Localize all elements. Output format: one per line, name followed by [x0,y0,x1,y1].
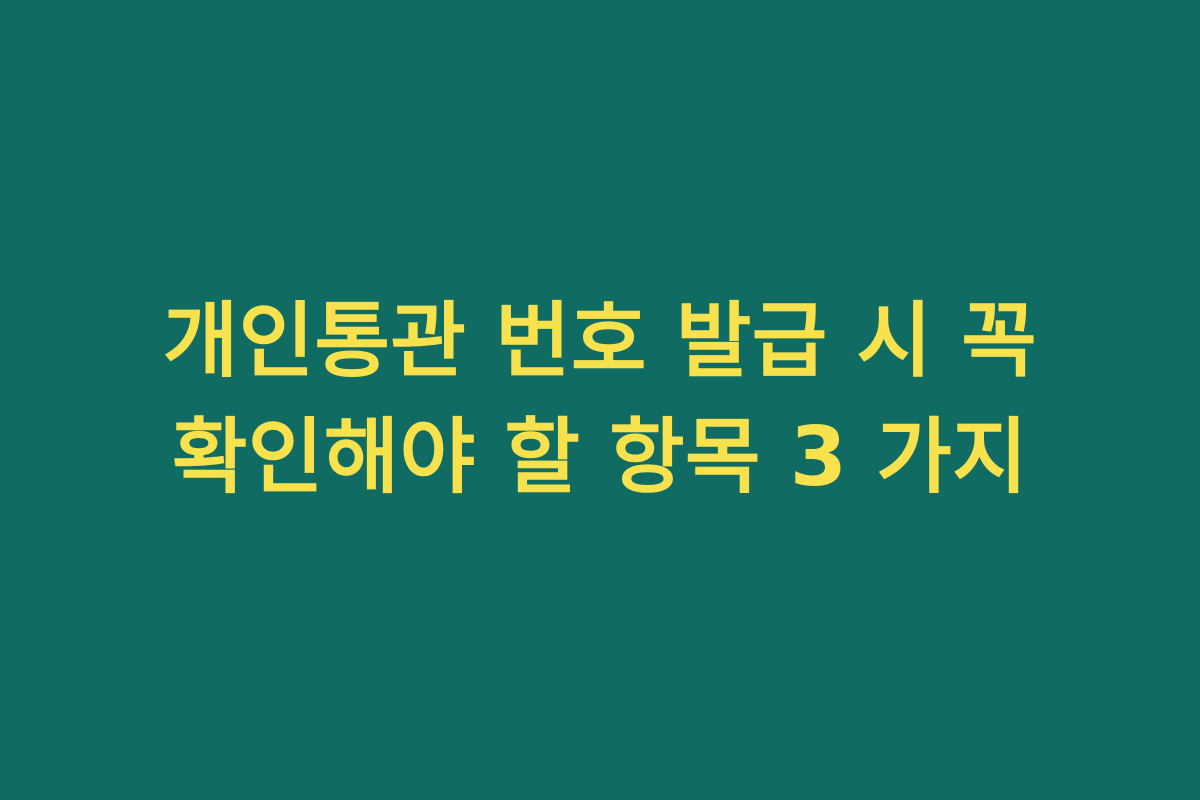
banner-background: 개인통관 번호 발급 시 꼭 확인해야 할 항목 3 가지 [0,0,1200,800]
headline-text: 개인통관 번호 발급 시 꼭 확인해야 할 항목 3 가지 [100,284,1100,517]
